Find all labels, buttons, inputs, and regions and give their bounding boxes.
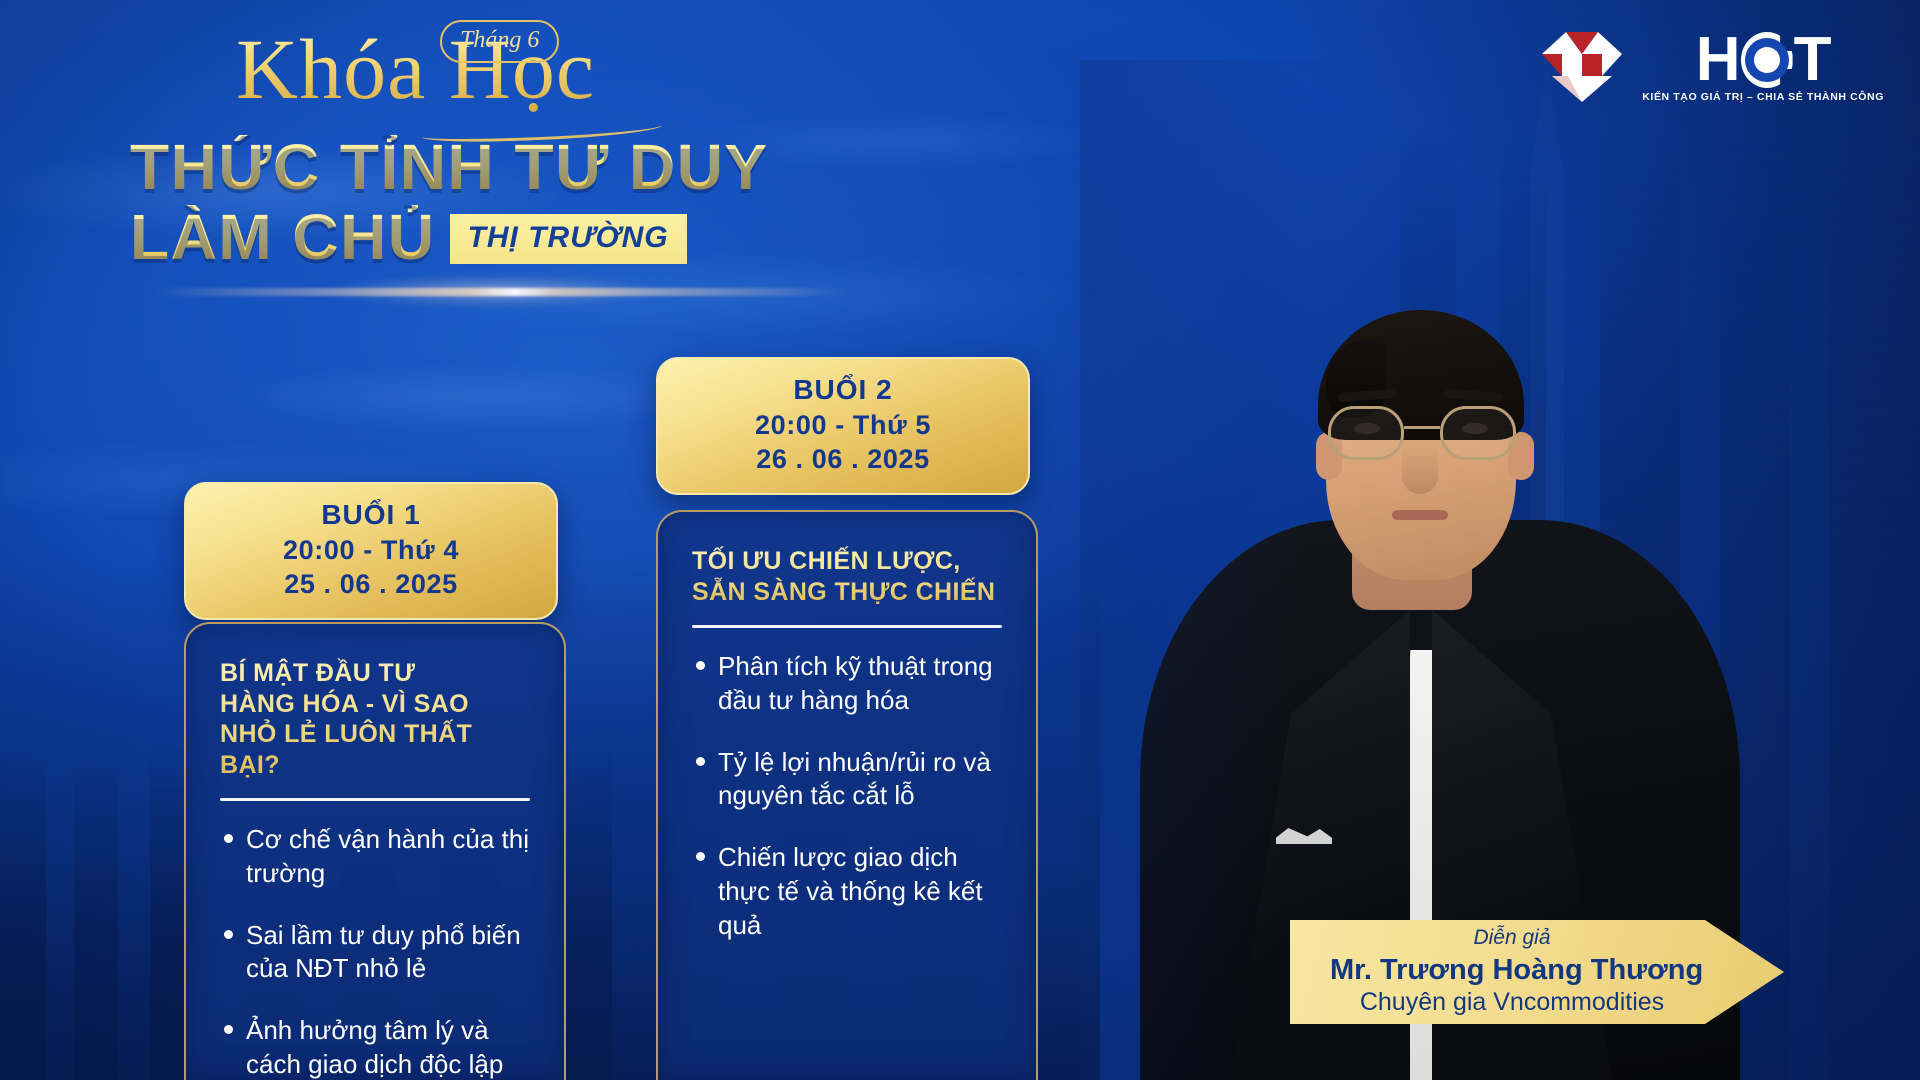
session-2-bullet-list: Phân tích kỹ thuật trong đầu tư hàng hóa… bbox=[692, 650, 1002, 943]
session-2-heading-line-1: TỐI ƯU CHIẾN LƯỢC, bbox=[692, 546, 1002, 577]
diamond-gem-icon bbox=[1538, 28, 1626, 106]
session-1-heading: BÍ MẬT ĐẦU TƯ HÀNG HÓA - VÌ SAO NHỎ LẺ L… bbox=[220, 658, 530, 780]
session-2-heading-line-2: SẴN SÀNG THỰC CHIẾN bbox=[692, 577, 1002, 608]
session-1-heading-line-1: BÍ MẬT ĐẦU TƯ bbox=[220, 658, 530, 689]
session-1-card: BÍ MẬT ĐẦU TƯ HÀNG HÓA - VÌ SAO NHỎ LẺ L… bbox=[184, 622, 566, 1080]
speaker-name: Mr. Trương Hoàng Thương bbox=[1330, 953, 1694, 988]
speaker-role: Diễn giả bbox=[1330, 925, 1694, 950]
session-pill-2: BUỔI 2 20:00 - Thứ 5 26 . 06 . 2025 bbox=[656, 357, 1030, 495]
list-item: Tỷ lệ lợi nhuận/rủi ro và nguyên tắc cắt… bbox=[692, 746, 1002, 814]
session-1-date: 25 . 06 . 2025 bbox=[212, 567, 530, 601]
list-item: Chiến lược giao dịch thực tế và thống kê… bbox=[692, 841, 1002, 942]
glasses-bridge bbox=[1404, 426, 1440, 429]
session-2-card: TỐI ƯU CHIẾN LƯỢC, SẴN SÀNG THỰC CHIẾN P… bbox=[656, 510, 1038, 1080]
market-badge: THỊ TRƯỜNG bbox=[450, 214, 687, 264]
session-1-divider bbox=[220, 798, 530, 801]
session-1-time: 20:00 - Thứ 4 bbox=[212, 533, 530, 567]
session-1-bullet-list: Cơ chế vận hành của thị trường Sai lầm t… bbox=[220, 823, 530, 1080]
month-badge: Tháng 6 bbox=[440, 20, 559, 63]
session-2-date: 26 . 06 . 2025 bbox=[684, 442, 1002, 476]
hct-letter-h: H bbox=[1696, 31, 1740, 88]
poster-canvas: Khóa Học Tháng 6 THỨC TỈNH TƯ DUY LÀM CH… bbox=[0, 0, 1920, 1080]
session-2-heading: TỐI ƯU CHIẾN LƯỢC, SẴN SÀNG THỰC CHIẾN bbox=[692, 546, 1002, 607]
hct-logo: H T KIẾN TẠO GIÁ TRỊ – CHIA SẺ THÀNH CÔN… bbox=[1538, 28, 1884, 106]
speaker-banner: Diễn giả Mr. Trương Hoàng Thương Chuyên … bbox=[1290, 920, 1784, 1024]
portrait-mouth bbox=[1392, 510, 1448, 520]
session-2-time: 20:00 - Thứ 5 bbox=[684, 408, 1002, 442]
glasses-lens-left bbox=[1328, 406, 1404, 460]
glasses-lens-right bbox=[1440, 406, 1516, 460]
speaker-organization: Chuyên gia Vncommodities bbox=[1330, 987, 1694, 1018]
session-1-title: BUỔI 1 bbox=[212, 498, 530, 533]
hct-letter-t: T bbox=[1794, 31, 1831, 88]
hct-letter-c bbox=[1741, 32, 1793, 88]
headline-block: THỨC TỈNH TƯ DUY LÀM CHỦ THỊ TRƯỜNG bbox=[130, 135, 870, 269]
session-1-heading-line-3: NHỎ LẺ LUÔN THẤT BẠI? bbox=[220, 719, 530, 780]
header-divider-flare bbox=[150, 288, 850, 296]
session-1-heading-line-2: HÀNG HÓA - VÌ SAO bbox=[220, 689, 530, 720]
headline-line-1: THỨC TỈNH TƯ DUY bbox=[130, 135, 870, 199]
list-item: Cơ chế vận hành của thị trường bbox=[220, 823, 530, 891]
hct-tagline: KIẾN TẠO GIÁ TRỊ – CHIA SẺ THÀNH CÔNG bbox=[1642, 91, 1884, 103]
portrait-nose bbox=[1402, 446, 1438, 494]
session-2-divider bbox=[692, 625, 1002, 628]
hct-logo-text: H T KIẾN TẠO GIÁ TRỊ – CHIA SẺ THÀNH CÔN… bbox=[1642, 31, 1884, 102]
list-item: Phân tích kỹ thuật trong đầu tư hàng hóa bbox=[692, 650, 1002, 718]
list-item: Sai lầm tư duy phổ biến của NĐT nhỏ lẻ bbox=[220, 919, 530, 987]
list-item: Ảnh hưởng tâm lý và cách giao dịch độc l… bbox=[220, 1014, 530, 1080]
session-2-title: BUỔI 2 bbox=[684, 373, 1002, 408]
session-pill-1: BUỔI 1 20:00 - Thứ 4 25 . 06 . 2025 bbox=[184, 482, 558, 620]
headline-row-2: LÀM CHỦ THỊ TRƯỜNG bbox=[130, 205, 870, 269]
hct-wordmark: H T bbox=[1696, 31, 1831, 88]
headline-line-2: LÀM CHỦ bbox=[130, 205, 436, 269]
